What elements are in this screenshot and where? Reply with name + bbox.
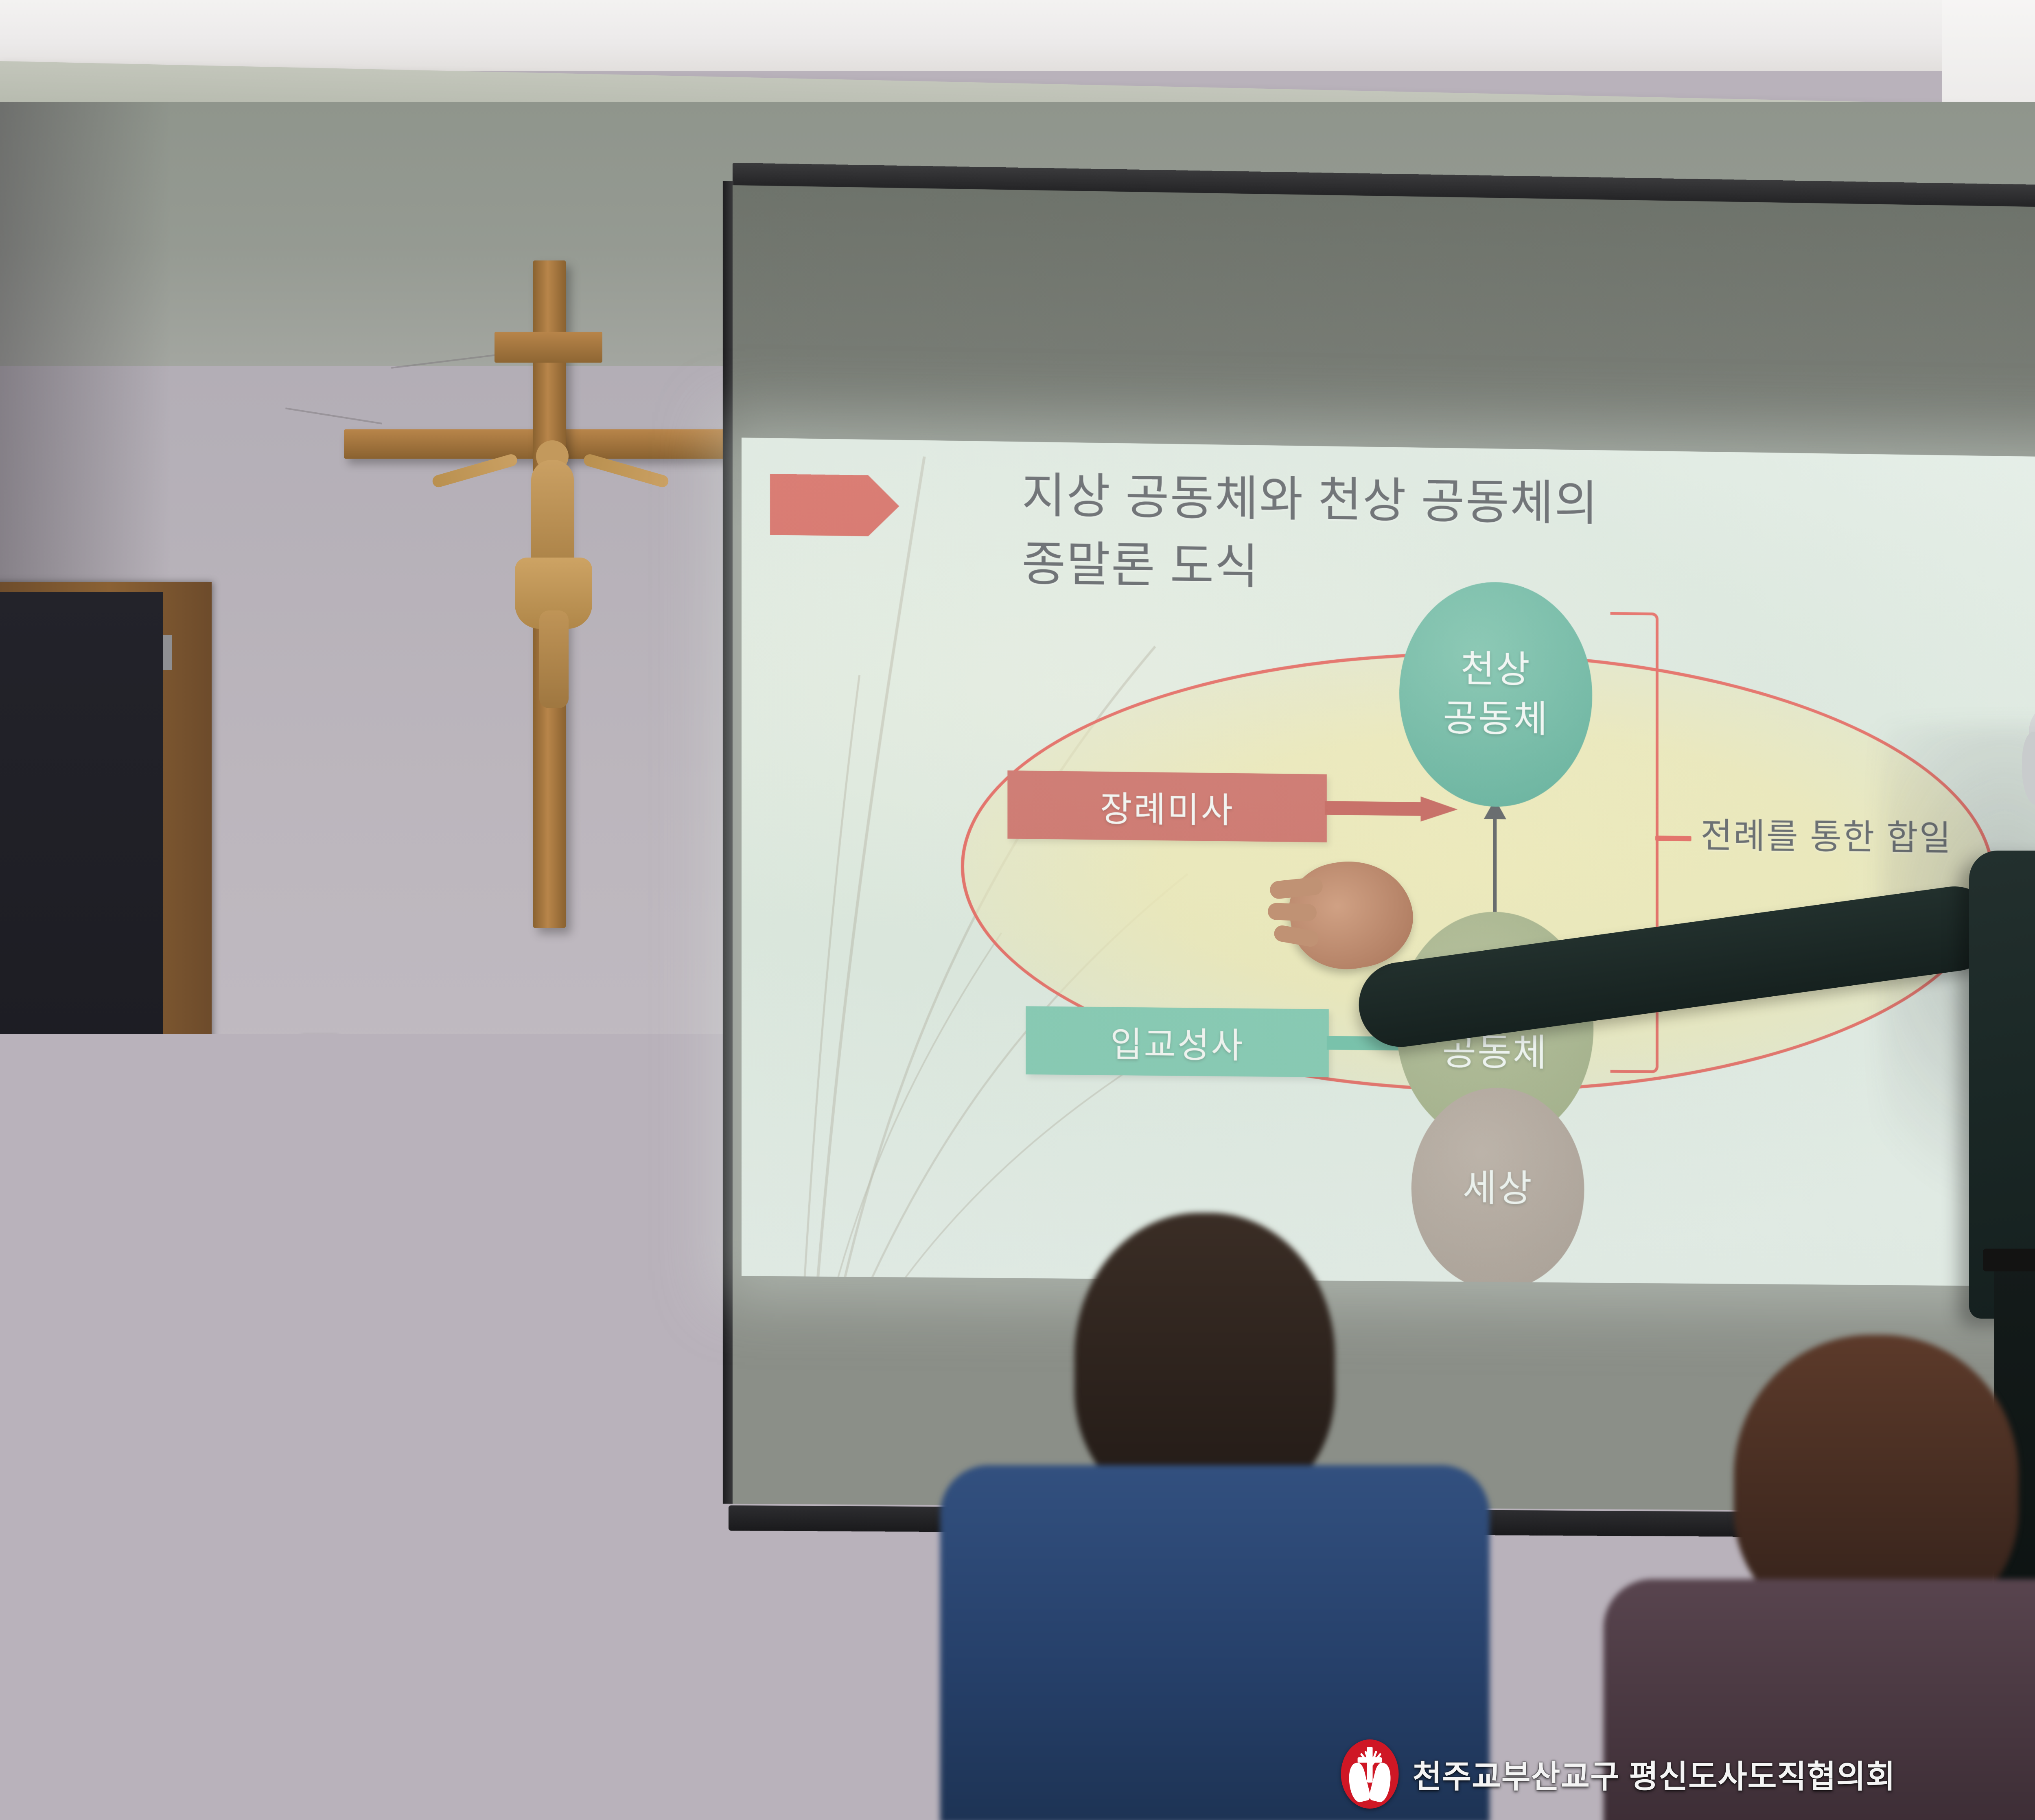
- node-heavenly-community: 천상 공동체: [1399, 581, 1592, 808]
- watermark-text: 천주교부산교구 평신도사도직협의회: [1413, 1751, 1896, 1797]
- door-sticker: [102, 1752, 130, 1777]
- tag-arrow-funeral-mass: [1325, 795, 1458, 822]
- door-hinge: [163, 635, 172, 670]
- scene-root: 지상 공동체와 천상 공동체의 종말론 도식 전례를 통한 합일 장례미사 입교…: [0, 0, 2035, 1820]
- tag-funeral-mass: 장례미사: [1007, 770, 1326, 842]
- door-hinge: [163, 1221, 172, 1256]
- flow-arrow-earth-to-heaven: [1493, 817, 1497, 918]
- speaker-belt: [1983, 1249, 2035, 1271]
- inri-plaque: [495, 332, 602, 363]
- slide-title-line-1: 지상 공동체와 천상 공동체의: [1022, 462, 2026, 544]
- door-knob-icon[interactable]: [114, 1793, 138, 1817]
- tag-initiation-sacraments: 입교성사: [1026, 1006, 1329, 1077]
- screen-edge-left: [723, 181, 733, 1504]
- node-heavenly-community-line-2: 공동체: [1443, 694, 1549, 744]
- corpus-legs: [539, 610, 569, 708]
- audience-member: [904, 1213, 1514, 1820]
- crucifix: [344, 260, 755, 928]
- node-heavenly-community-line-1: 천상: [1461, 645, 1531, 695]
- light-switch[interactable]: [301, 1034, 339, 1091]
- node-world-label: 세상: [1463, 1164, 1533, 1214]
- ceiling: [0, 0, 2035, 71]
- watermark: 천주교부산교구 평신도사도직협의회: [1341, 1739, 1896, 1809]
- speaker-finger: [1267, 903, 1317, 921]
- door[interactable]: [0, 592, 163, 1797]
- union-bracket-tick: [1655, 836, 1691, 841]
- corpus-figure: [503, 435, 600, 716]
- diocese-logo-icon: [1341, 1739, 1399, 1809]
- paper-cup: [842, 1691, 899, 1768]
